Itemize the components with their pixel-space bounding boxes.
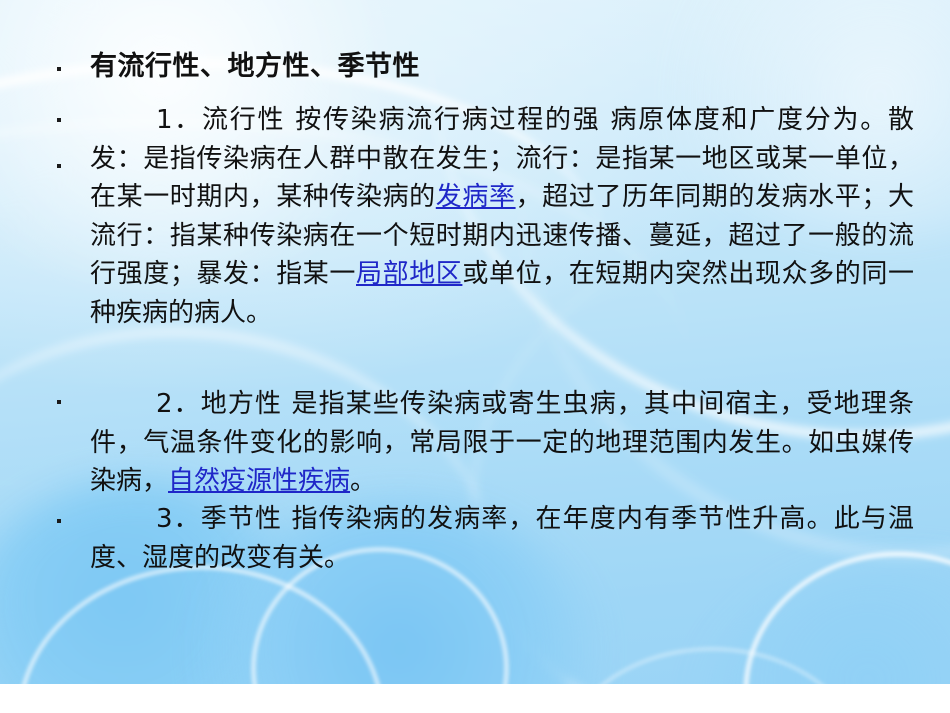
link-natural-focus-disease[interactable]: 自然疫源性疾病 xyxy=(168,466,350,496)
bullet-marker xyxy=(57,164,61,168)
bullet-marker xyxy=(57,400,61,404)
paragraph-2: 2．地方性 是指某些传染病或寄生虫病，其中间宿主，受地理条件，气温条件变化的影响… xyxy=(90,385,914,501)
paragraph-1-heading: 流行性 xyxy=(202,105,285,135)
paragraph-2-text-b: 。 xyxy=(350,466,376,496)
paragraph-3: 3．季节性 指传染病的发病率，在年度内有季节性升高。此与温度、湿度的改变有关。 xyxy=(90,500,914,577)
paragraph-2-number: 2． xyxy=(156,389,201,419)
slide-title: 有流行性、地方性、季节性 xyxy=(90,50,914,84)
bullet-marker xyxy=(57,519,61,523)
slide-content: 有流行性、地方性、季节性 1．流行性 按传染病流行病过程的强 病原体度和广度分为… xyxy=(0,0,950,713)
paragraph-2-heading: 地方性 xyxy=(201,389,282,419)
slide-canvas: 有流行性、地方性、季节性 1．流行性 按传染病流行病过程的强 病原体度和广度分为… xyxy=(0,0,950,713)
link-local-area[interactable]: 局部地区 xyxy=(356,259,462,289)
paragraph-1: 1．流行性 按传染病流行病过程的强 病原体度和广度分为。散发：是指传染病在人群中… xyxy=(90,101,914,332)
paragraph-1-number: 1． xyxy=(156,105,202,135)
paragraph-3-number: 3． xyxy=(156,504,201,534)
bullet-marker xyxy=(57,67,61,71)
link-morbidity-rate[interactable]: 发病率 xyxy=(436,182,516,212)
paragraph-3-heading: 季节性 xyxy=(201,504,282,534)
bullet-marker xyxy=(57,118,61,122)
